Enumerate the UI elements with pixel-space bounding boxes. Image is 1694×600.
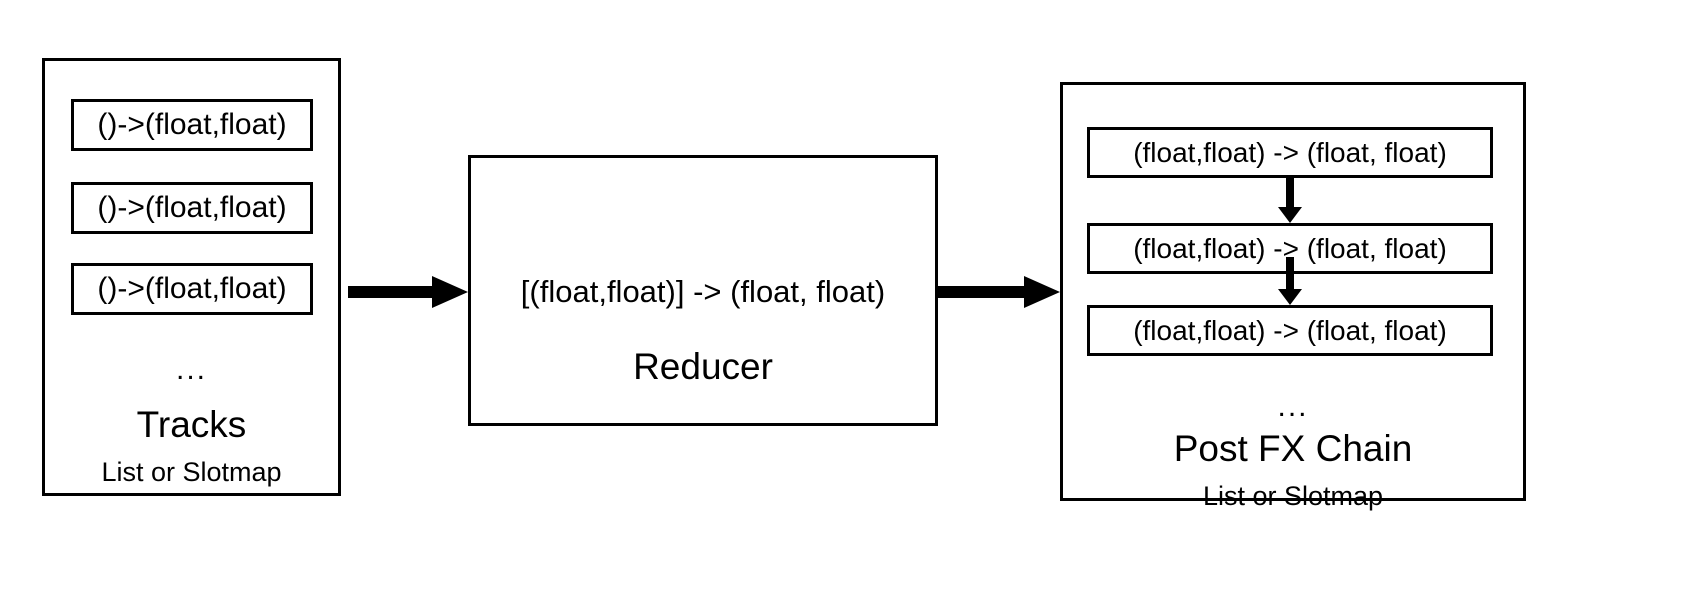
track-item-label: ()->(float,float) (97, 191, 286, 225)
postfx-subtitle: List or Slotmap (1063, 483, 1523, 510)
fx-item-label: (float,float) -> (float, float) (1133, 137, 1447, 169)
fx-item: (float,float) -> (float, float) (1087, 305, 1493, 356)
track-item: ()->(float,float) (71, 263, 313, 315)
arrow-tracks-to-reducer-icon (348, 272, 472, 312)
postfx-title: Post FX Chain (1063, 430, 1523, 467)
diagram-canvas: ()->(float,float) ()->(float,float) ()->… (0, 0, 1694, 600)
chain-link-arrow-down-icon (1275, 177, 1305, 225)
tracks-title: Tracks (45, 406, 338, 443)
track-item-label: ()->(float,float) (97, 108, 286, 142)
tracks-container: ()->(float,float) ()->(float,float) ()->… (42, 58, 341, 496)
fx-item-label: (float,float) -> (float, float) (1133, 315, 1447, 347)
track-item: ()->(float,float) (71, 99, 313, 151)
tracks-subtitle: List or Slotmap (45, 459, 338, 486)
postfx-ellipsis: ... (1063, 392, 1523, 422)
reducer-signature: [(float,float)] -> (float, float) (471, 276, 935, 307)
fx-item: (float,float) -> (float, float) (1087, 127, 1493, 178)
track-item-label: ()->(float,float) (97, 272, 286, 306)
reducer-container: [(float,float)] -> (float, float) Reduce… (468, 155, 938, 426)
tracks-ellipsis: ... (45, 355, 338, 385)
postfx-container: (float,float) -> (float, float) (float,f… (1060, 82, 1526, 501)
track-item: ()->(float,float) (71, 182, 313, 234)
arrow-reducer-to-postfx-icon (938, 272, 1064, 312)
reducer-title: Reducer (471, 348, 935, 385)
chain-link-arrow-down-icon (1275, 257, 1305, 307)
